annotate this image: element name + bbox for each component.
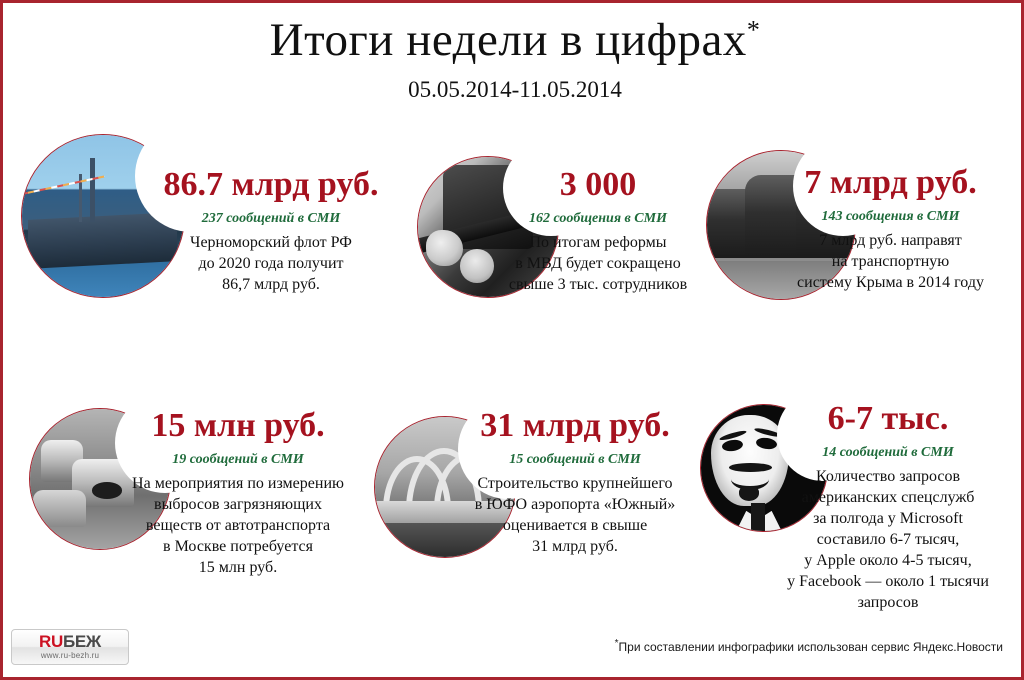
stat-description-line: за полгода у Microsoft [759,508,1017,529]
stat-number: 6-7 тыс. [759,400,1017,438]
stat-description-line: 31 млрд руб. [435,536,715,557]
stat-description-line: систему Крыма в 2014 году [763,272,1018,293]
stat-description-line: до 2020 года получит [121,253,421,274]
date-range: 05.05.2014-11.05.2014 [3,75,1024,105]
header: Итоги недели в цифрах* 05.05.2014-11.05.… [3,11,1024,105]
title-asterisk: * [747,15,761,44]
stat-description-line: 86,7 млрд руб. [121,274,421,295]
stat-number: 7 млрд руб. [763,164,1018,202]
logo-wordmark: RUБЕЖ [12,632,128,651]
stat-number: 15 млн руб. [93,407,383,445]
stat-description: Черноморский флот РФ до 2020 года получи… [121,232,421,295]
stat-mentions: 143 сообщения в СМИ [763,207,1018,227]
stat-description-line: Количество запросов [759,466,1017,487]
stat-description-line: По итогам реформы [483,232,713,253]
stat-mentions: 14 сообщений в СМИ [759,443,1017,463]
stat-description-line: Черноморский флот РФ [121,232,421,253]
stat-description: По итогам реформы в МВД будет сокращено … [483,232,713,295]
stat-mentions: 162 сообщения в СМИ [483,209,713,229]
stat-mentions: 15 сообщений в СМИ [435,450,715,470]
logo-url: www.ru-bezh.ru [12,651,128,661]
stat-description-line: в МВД будет сокращено [483,253,713,274]
stat-description-line: На мероприятия по измерению [93,473,383,494]
stat-description-line: Строительство крупнейшего [435,473,715,494]
stat-description-line: веществ от автотранспорта [93,515,383,536]
footnote-text: При составлении инфографики использован … [619,640,1003,654]
stat-description-line: 7 млрд руб. направят [763,230,1018,251]
stat-description-line: запросов [759,592,1017,613]
stat-description: 7 млрд руб. направят на транспортную сис… [763,230,1018,293]
stat-description-line: на транспортную [763,251,1018,272]
stat-description-line: американских спецслужб [759,487,1017,508]
logo-bezh-part: БЕЖ [63,632,101,651]
stat-description: Количество запросов американских спецслу… [759,466,1017,613]
logo-ru-part: RU [39,632,63,651]
stat-description: Строительство крупнейшего в ЮФО аэропорт… [435,473,715,557]
stat-description-line: оценивается в свыше [435,515,715,536]
stat-number: 31 млрд руб. [435,407,715,445]
stat-number: 3 000 [483,166,713,204]
stat-description-line: у Apple около 4-5 тысяч, [759,550,1017,571]
stat-description: На мероприятия по измерению выбросов заг… [93,473,383,578]
stat-description-line: выбросов загрязняющих [93,494,383,515]
stat-mentions: 19 сообщений в СМИ [93,450,383,470]
stat-text-us-intel-requests: 6-7 тыс. 14 сообщений в СМИ Количество з… [759,400,1017,613]
stat-text-black-sea-fleet: 86.7 млрд руб. 237 сообщений в СМИ Черно… [121,166,421,295]
stat-text-moscow-emissions: 15 млн руб. 19 сообщений в СМИ На меропр… [93,407,383,578]
stat-description-line: в Москве потребуется [93,536,383,557]
page-title: Итоги недели в цифрах* [3,11,1024,69]
stat-description-line: 15 млн руб. [93,557,383,578]
rubezh-logo[interactable]: RUБЕЖ www.ru-bezh.ru [11,629,129,665]
stat-description-line: свыше 3 тыс. сотрудников [483,274,713,295]
footnote: *При составлении инфографики использован… [615,639,1003,655]
stat-text-yuzhny-airport: 31 млрд руб. 15 сообщений в СМИ Строител… [435,407,715,557]
page-title-text: Итоги недели в цифрах [270,14,747,66]
stat-text-crimea-transport: 7 млрд руб. 143 сообщения в СМИ 7 млрд р… [763,164,1018,293]
stat-mentions: 237 сообщений в СМИ [121,209,421,229]
stat-description-line: составило 6-7 тысяч, [759,529,1017,550]
stat-description-line: в ЮФО аэропорта «Южный» [435,494,715,515]
stat-number: 86.7 млрд руб. [121,166,421,204]
stat-text-mvd-reform: 3 000 162 сообщения в СМИ По итогам рефо… [483,166,713,295]
stat-description-line: у Facebook — около 1 тысячи [759,571,1017,592]
infographic-page: Итоги недели в цифрах* 05.05.2014-11.05.… [0,0,1024,680]
